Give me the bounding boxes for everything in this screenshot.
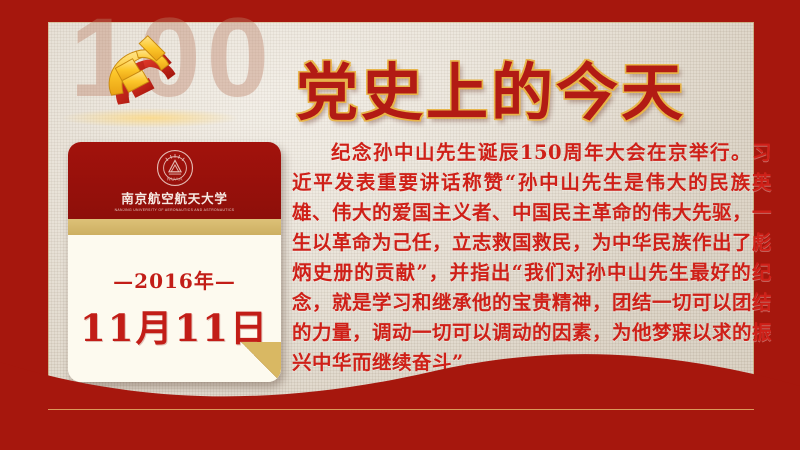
bottom-red-wave <box>0 310 800 450</box>
calendar-university-name-cn: 南京航空航天大学 <box>121 188 227 207</box>
calendar-university-name-en: NANJING UNIVERSITY OF AERONAUTICS AND AS… <box>115 208 235 212</box>
gold-border-rule <box>48 409 754 410</box>
page-title: 党史上的今天 <box>296 42 686 132</box>
cpc-party-emblem-icon <box>96 32 192 118</box>
calendar-gold-band <box>68 219 281 235</box>
svg-text:NUAA: NUAA <box>167 177 183 183</box>
poster-canvas: 100 <box>0 0 800 450</box>
calendar-header: NUAA 南京航空航天大学 NANJING UNIVERSITY OF AERO… <box>68 142 281 219</box>
nuaa-seal-logo-icon: NUAA <box>156 149 194 187</box>
calendar-year: —2016年— <box>113 265 236 294</box>
